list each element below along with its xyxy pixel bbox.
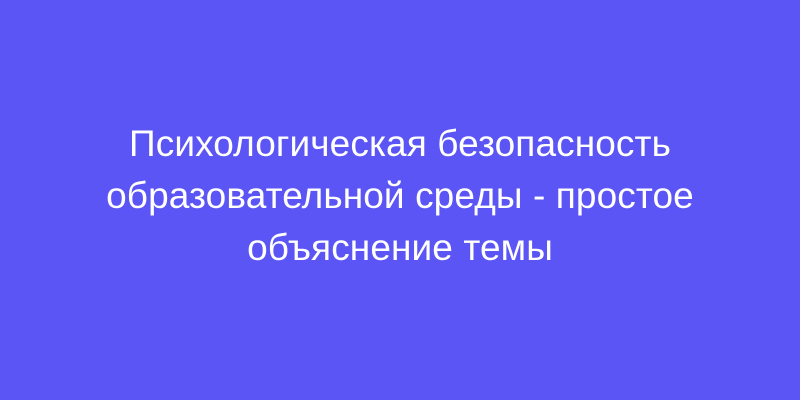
page-title-line-3: объяснение темы — [50, 222, 750, 274]
title-banner: Психологическая безопасность образовател… — [0, 0, 800, 400]
page-title-line-2: образовательной среды - простое — [50, 170, 750, 222]
page-title: Психологическая безопасность образовател… — [50, 118, 750, 282]
page-title-line-1: Психологическая безопасность — [50, 118, 750, 170]
